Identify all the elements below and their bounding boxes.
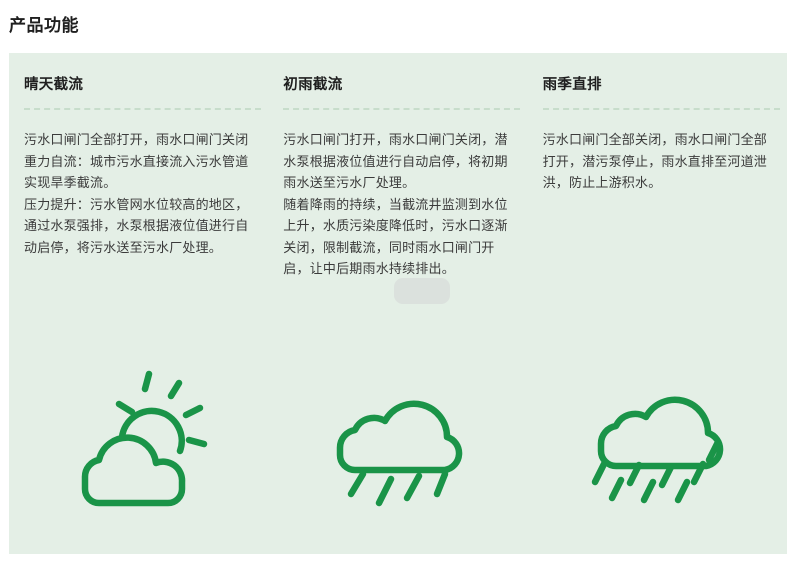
feature-column-body: 污水口闸门全部关闭，雨水口闸门全部打开，潜污泵停止，雨水直排至河道泄洪，防止上游… <box>543 129 769 194</box>
feature-column-body: 污水口闸门打开，雨水口闸门关闭，潜水泵根据液位值进行自动启停，将初期雨水送至污水… <box>283 129 509 280</box>
feature-icon-slot-3 <box>528 323 787 554</box>
feature-icon-slot-1 <box>9 323 268 554</box>
feature-column-title: 初雨截流 <box>283 75 509 95</box>
dashed-divider <box>24 108 261 110</box>
dashed-divider <box>543 108 780 110</box>
features-panel: 晴天截流 污水口闸门全部打开，雨水口闸门关闭重力自流：城市污水直接流入污水管道实… <box>9 53 787 554</box>
feature-column-body: 污水口闸门全部打开，雨水口闸门关闭重力自流：城市污水直接流入污水管道实现旱季截流… <box>24 129 250 258</box>
feature-icons-row <box>9 323 787 554</box>
page-title: 产品功能 <box>9 14 79 38</box>
feature-column-title: 晴天截流 <box>24 75 250 95</box>
cloud-heavy-rain-icon <box>582 364 732 514</box>
cloud-light-rain-icon <box>323 364 473 514</box>
product-features-page: 产品功能 晴天截流 污水口闸门全部打开，雨水口闸门关闭重力自流：城市污水直接流入… <box>0 0 800 570</box>
sun-behind-cloud-icon <box>64 364 214 514</box>
feature-column-title: 雨季直排 <box>543 75 769 95</box>
dashed-divider <box>283 108 520 110</box>
feature-icon-slot-2 <box>268 323 527 554</box>
